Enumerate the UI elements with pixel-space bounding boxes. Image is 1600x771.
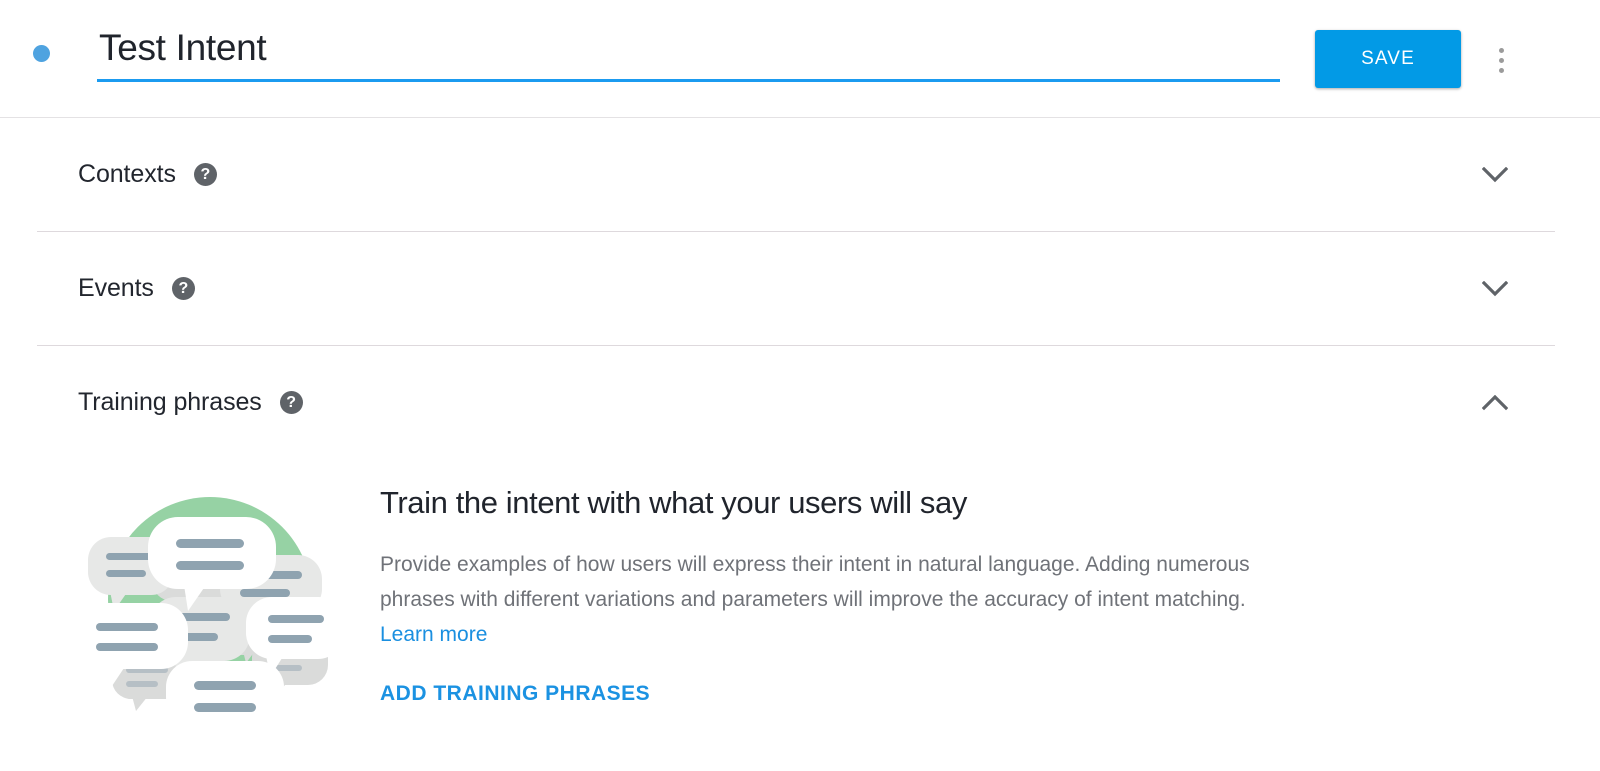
active-intent-dot-icon: [33, 45, 50, 62]
intent-sections: Contexts ? Events ?: [0, 118, 1600, 723]
section-title-training-phrases: Training phrases: [78, 388, 262, 417]
intent-editor-page: SAVE Contexts ? Events: [0, 0, 1600, 771]
help-icon-contexts[interactable]: ?: [194, 163, 217, 186]
section-header-events[interactable]: Events ?: [0, 232, 1600, 345]
section-header-contexts[interactable]: Contexts ?: [0, 118, 1600, 231]
dot-1: [1499, 48, 1504, 53]
section-contexts: Contexts ?: [0, 118, 1600, 232]
section-title-events: Events: [78, 274, 154, 303]
help-icon-events[interactable]: ?: [172, 277, 195, 300]
chevron-down-icon-contexts[interactable]: [1478, 158, 1512, 192]
section-events: Events ?: [0, 232, 1600, 346]
intent-title-wrapper: [97, 24, 1280, 82]
more-options-icon[interactable]: [1486, 40, 1516, 80]
help-icon-training-phrases[interactable]: ?: [280, 391, 303, 414]
chevron-up-icon-training-phrases[interactable]: [1478, 386, 1512, 420]
training-phrases-heading: Train the intent with what your users wi…: [380, 485, 1270, 521]
training-phrases-description: Provide examples of how users will expre…: [380, 547, 1270, 652]
learn-more-link[interactable]: Learn more: [380, 623, 487, 646]
speech-bubbles-illustration-icon: [76, 477, 344, 723]
description-text: Provide examples of how users will expre…: [380, 553, 1250, 611]
add-training-phrases-button[interactable]: ADD TRAINING PHRASES: [380, 682, 650, 706]
dot-3: [1499, 68, 1504, 73]
section-header-training-phrases[interactable]: Training phrases ?: [0, 346, 1600, 459]
dot-2: [1499, 58, 1504, 63]
training-phrases-text: Train the intent with what your users wi…: [344, 477, 1270, 723]
intent-title-input[interactable]: [97, 24, 1280, 82]
save-button[interactable]: SAVE: [1315, 30, 1461, 88]
section-training-phrases: Training phrases ?: [0, 346, 1600, 723]
training-phrases-empty-state: Train the intent with what your users wi…: [0, 459, 1600, 723]
intent-header: SAVE: [0, 0, 1600, 118]
section-title-contexts: Contexts: [78, 160, 176, 189]
chevron-down-icon-events[interactable]: [1478, 272, 1512, 306]
